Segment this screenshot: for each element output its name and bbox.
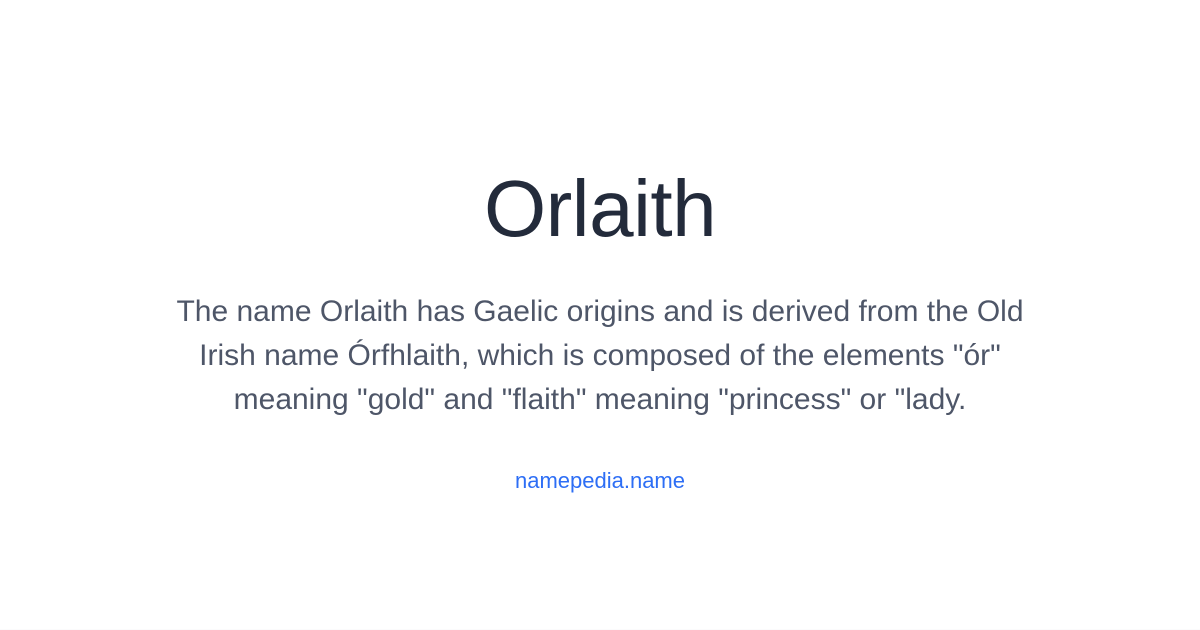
card-content: Orlaith The name Orlaith has Gaelic orig… xyxy=(130,0,1070,494)
name-meaning-card: Orlaith The name Orlaith has Gaelic orig… xyxy=(0,0,1200,630)
page-title: Orlaith xyxy=(130,168,1070,250)
source-site-link[interactable]: namepedia.name xyxy=(515,468,685,493)
source-link-container: namepedia.name xyxy=(130,468,1070,494)
name-description-text: The name Orlaith has Gaelic origins and … xyxy=(150,290,1050,422)
